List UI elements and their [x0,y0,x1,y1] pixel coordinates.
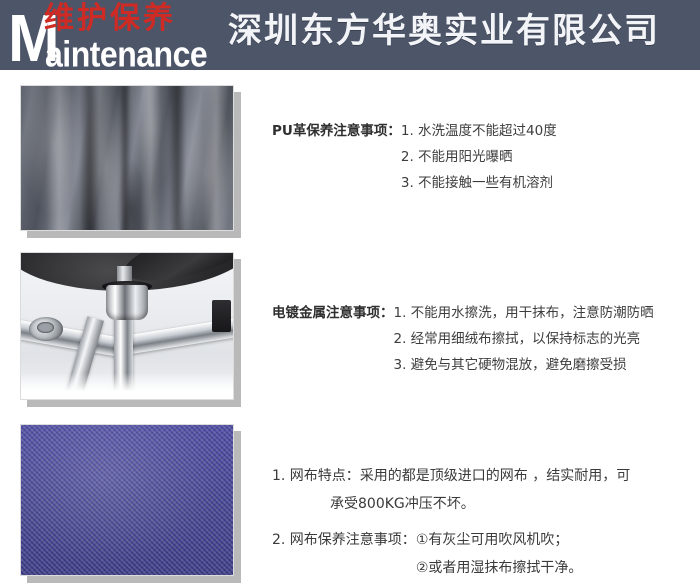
list-item: 3. 不能接触一些有机溶剂 [401,170,557,196]
chrome-metal-text-block: 电镀金属注意事项： 1. 不能用水擦洗，用干抹布，注意防潮防晒 2. 经常用细绒… [272,300,654,378]
mesh-point-1: 1. 网布特点： 采用的都是顶级进口的网布 ，结实耐用，可 [272,462,692,490]
pu-fold-shadow [80,85,99,231]
pu-leather-item-list: 1. 水洗温度不能超过40度 2. 不能用阳光曝晒 3. 不能接触一些有机溶剂 [401,118,557,196]
pu-fold-shadow [119,85,132,231]
pu-fold-highlight [140,85,161,231]
list-item: 1. 水洗温度不能超过40度 [401,118,557,144]
chrome-metal-label: 电镀金属注意事项： [272,300,394,326]
caster-hole [37,322,54,334]
pu-leather-label: PU革保养注意事项： [272,118,401,144]
text-spacer [272,518,692,526]
mesh-fabric-photo [20,424,234,576]
mesh-fabric-sheen [21,425,233,575]
chrome-base-photo [20,252,234,400]
pu-fold-shadow [169,85,186,231]
logo-english-text: aintenance [45,35,207,70]
mesh-fabric-text-block: 1. 网布特点： 采用的都是顶级进口的网布 ，结实耐用，可 承受800KG冲压不… [272,462,692,582]
pu-fold-highlight [203,85,228,231]
chrome-floor-highlight [21,373,233,399]
company-name: 深圳东方华奥实业有限公司 [228,8,660,54]
mesh-point-1-label: 1. 网布特点： [272,462,360,490]
mesh-point-2: 2. 网布保养注意事项： ①有灰尘可用吹风机吹； ②或者用湿抹布擦拭干净。 [272,526,692,582]
mesh-point-1-line-1: 采用的都是顶级进口的网布 ，结实耐用，可 [360,462,630,490]
mesh-point-1-line-2: 承受800KG冲压不坏。 [272,490,692,518]
chrome-metal-item-list: 1. 不能用水擦洗，用干抹布，注意防潮防晒 2. 经常用细绒布擦拭，以保持标志的… [394,300,654,378]
mesh-point-1-lines: 采用的都是顶级进口的网布 ，结实耐用，可 [360,462,630,490]
mesh-point-2-sub-list: ①有灰尘可用吹风机吹； ②或者用湿抹布擦拭干净。 [416,526,583,582]
list-item: 2. 不能用阳光曝晒 [401,144,557,170]
list-item: 2. 经常用细绒布擦拭，以保持标志的光亮 [394,326,654,352]
mesh-point-2-label: 2. 网布保养注意事项： [272,526,416,554]
chrome-base-photo-frame [20,252,234,400]
mesh-point-2-sub-1: ①有灰尘可用吹风机吹； [416,526,583,554]
page-header: M 维护保养 aintenance 深圳东方华奥实业有限公司 [0,0,700,70]
pu-leather-text-block: PU革保养注意事项： 1. 水洗温度不能超过40度 2. 不能用阳光曝晒 3. … [272,118,557,196]
pu-leather-photo [20,85,234,231]
mesh-point-2-sub-2: ②或者用湿抹布擦拭干净。 [416,554,583,582]
mesh-fabric-photo-frame [20,424,234,576]
list-item: 3. 避免与其它硬物混放，避免磨擦受损 [394,352,654,378]
maintenance-logo: M 维护保养 aintenance [8,2,234,68]
pu-leather-photo-frame [20,85,234,231]
list-item: 1. 不能用水擦洗，用干抹布，注意防潮防晒 [394,300,654,326]
logo-chinese-text: 维护保养 [44,3,176,35]
pu-fold-highlight [46,85,71,231]
black-plastic-part [212,300,231,332]
gas-cylinder-collar [106,285,148,320]
